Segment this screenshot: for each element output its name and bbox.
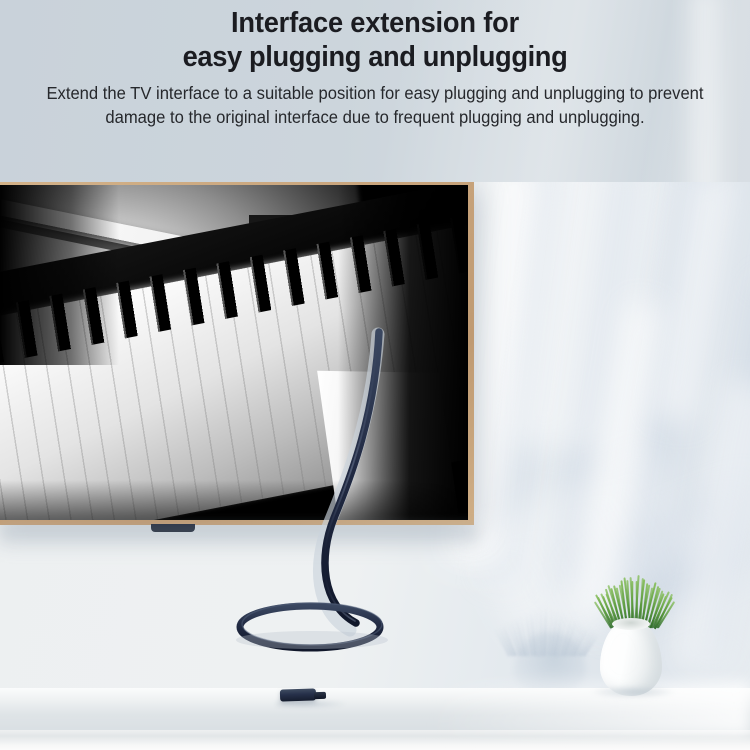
vase-rim [612,618,650,630]
potted-plant [588,578,672,696]
piano-right-shadow [338,185,468,520]
headline-block: Interface extension for easy plugging an… [0,6,750,129]
tv-drop-shadow [0,526,478,552]
headline-line-1: Interface extension for [23,6,728,40]
piano-photo [0,185,468,520]
headline-line-2: easy plugging and unplugging [23,40,728,74]
piano-left-shadow [0,185,119,365]
vase [600,620,662,696]
television [0,182,474,525]
room-scene [0,182,750,750]
tv-screen [0,185,468,520]
subcopy-paragraph: Extend the TV interface to a suitable po… [17,82,733,129]
product-banner: Interface extension for easy plugging an… [0,0,750,750]
vase-contact-shadow [590,686,676,698]
piano-bottom-shadow [0,480,468,520]
